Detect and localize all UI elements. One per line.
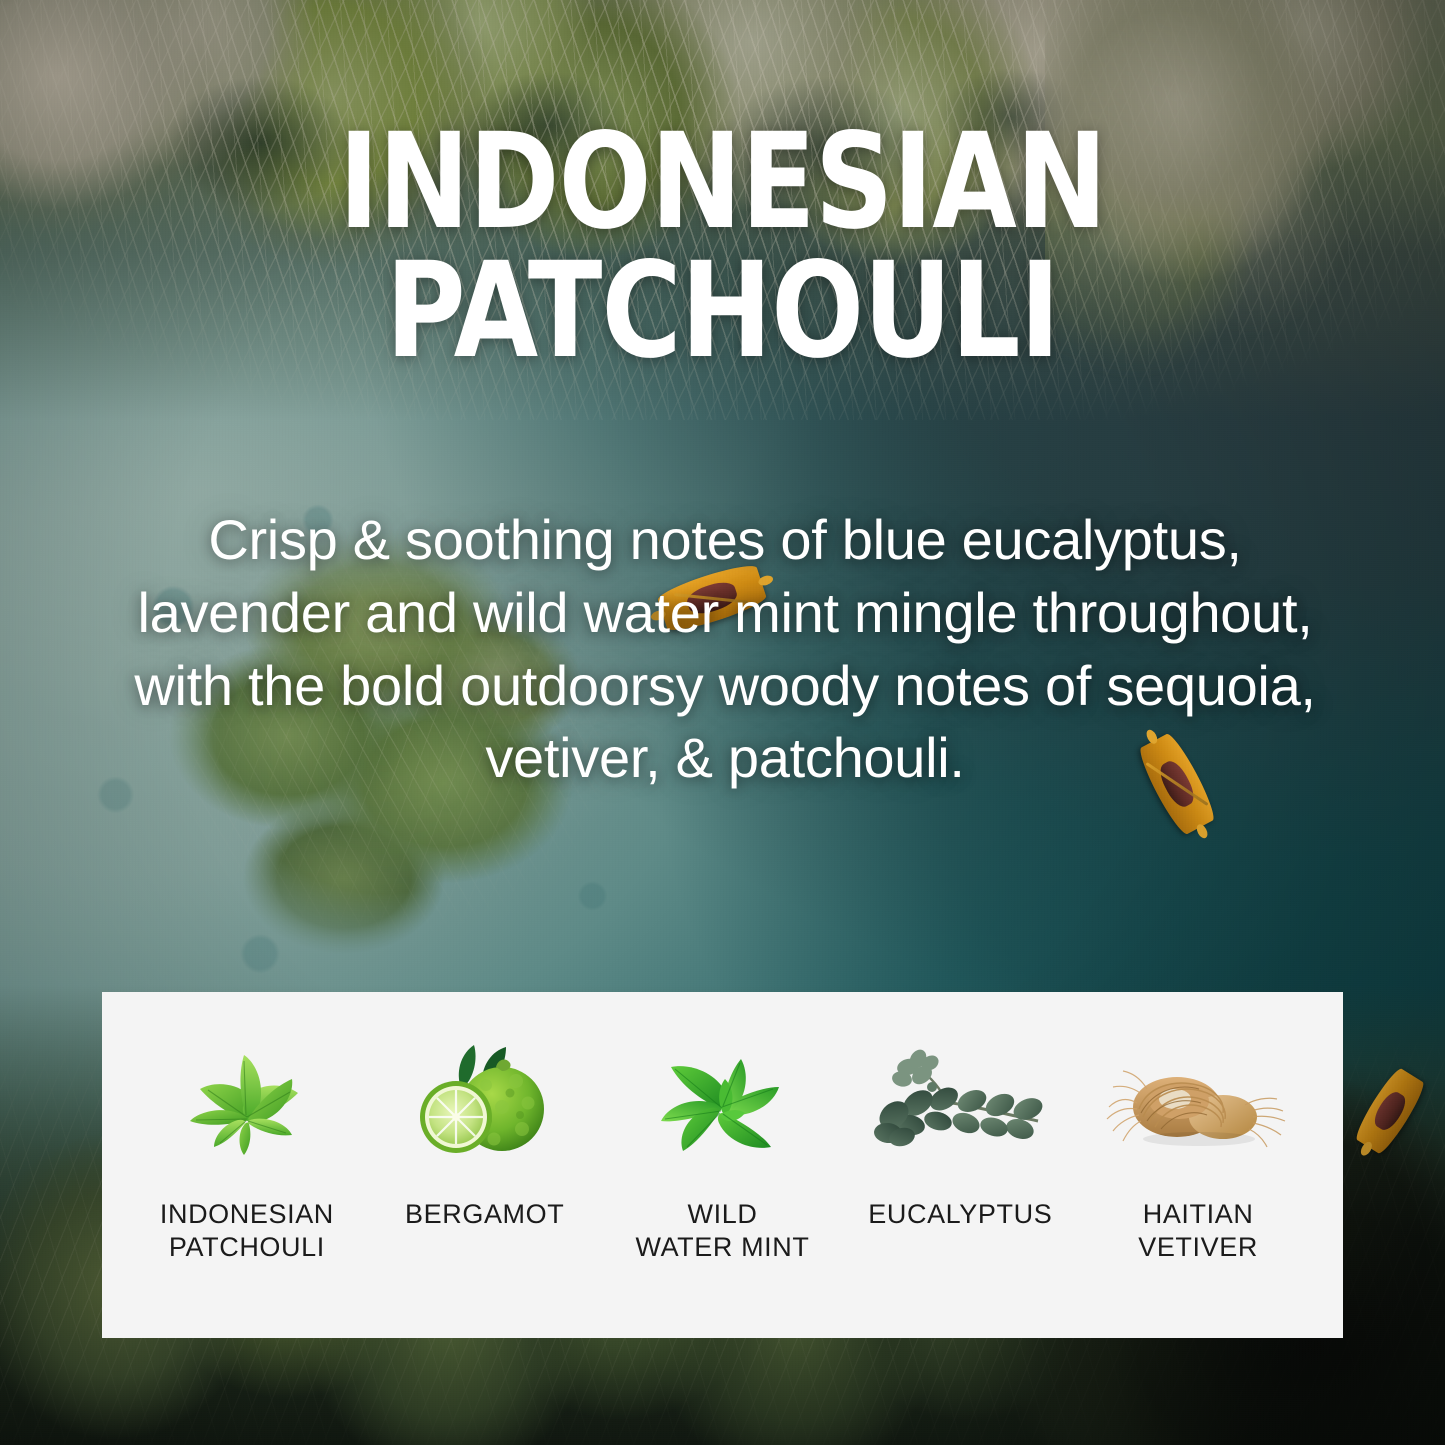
ingredient-item-bergamot: BERGAMOT [366, 1016, 604, 1318]
page-title: INDONESIAN PATCHOULI [58, 118, 1387, 377]
ingredient-label: EUCALYPTUS [868, 1198, 1052, 1231]
bergamot-citrus-icon [366, 1016, 604, 1192]
ingredient-panel: INDONESIAN PATCHOULI [102, 992, 1343, 1338]
vetiver-roots-icon [1079, 1016, 1317, 1192]
eucalyptus-branch-icon [841, 1016, 1079, 1192]
ingredient-item-mint: WILD WATER MINT [604, 1016, 842, 1318]
product-scent-poster: INDONESIAN PATCHOULI Crisp & soothing no… [0, 0, 1445, 1445]
ingredient-label: BERGAMOT [405, 1198, 564, 1231]
ingredient-item-eucalyptus: EUCALYPTUS [841, 1016, 1079, 1318]
mint-leaves-icon [604, 1016, 842, 1192]
ingredient-item-vetiver: HAITIAN VETIVER [1079, 1016, 1317, 1318]
ingredient-label: HAITIAN VETIVER [1138, 1198, 1258, 1264]
ingredient-item-patchouli: INDONESIAN PATCHOULI [128, 1016, 366, 1318]
patchouli-leaves-icon [128, 1016, 366, 1192]
ingredient-label: INDONESIAN PATCHOULI [160, 1198, 334, 1264]
ingredient-label: WILD WATER MINT [636, 1198, 810, 1264]
scent-description: Crisp & soothing notes of blue eucalyptu… [96, 504, 1354, 795]
